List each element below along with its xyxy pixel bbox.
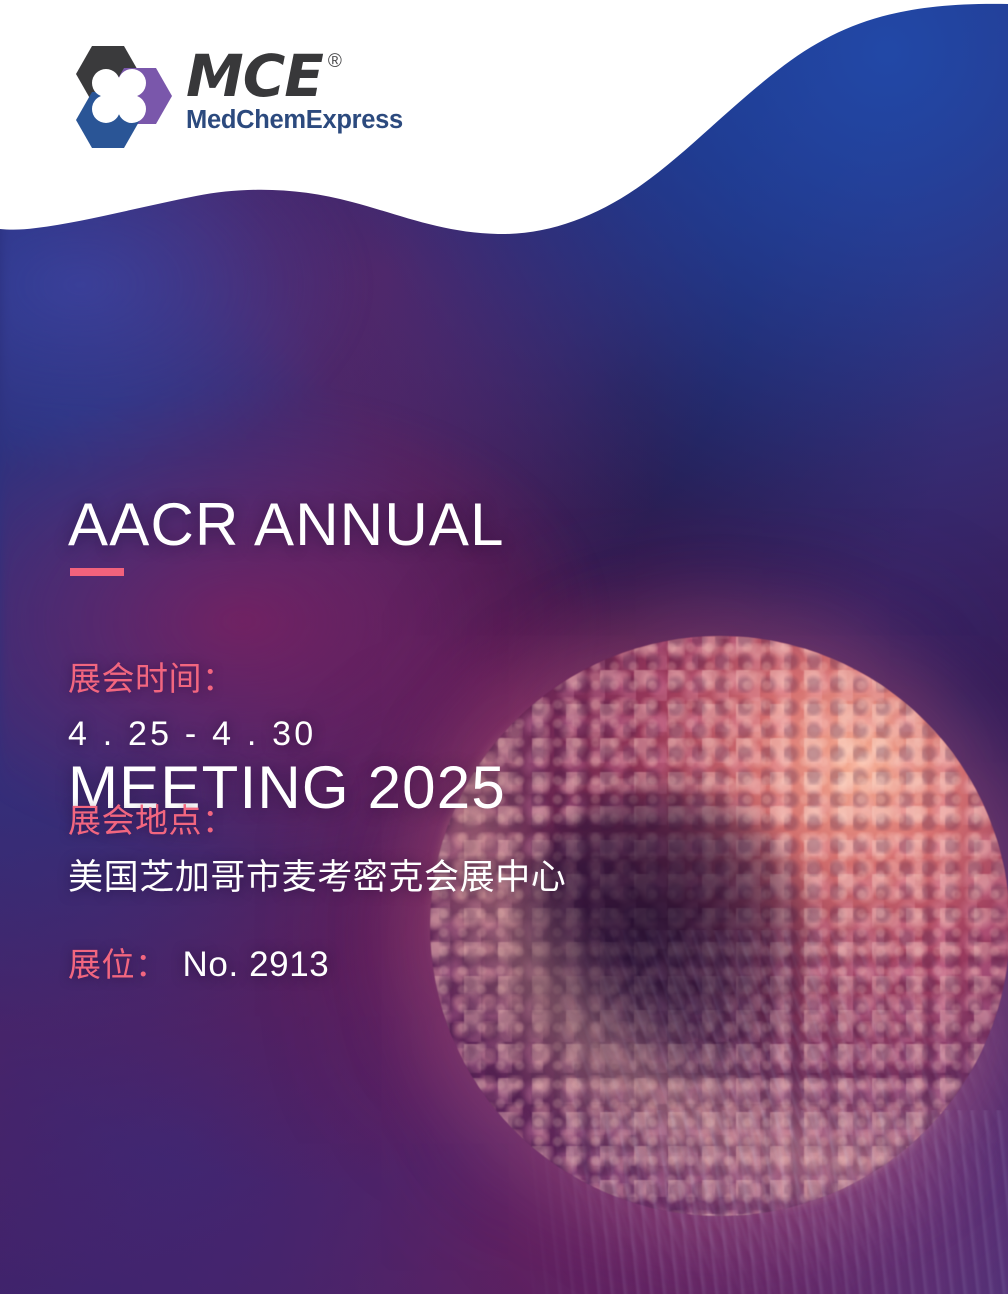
accent-divider-bar [70, 568, 124, 576]
info-value-booth: No. 2913 [183, 945, 330, 985]
mce-wordmark: MCE [186, 50, 323, 103]
registered-trademark-icon: ® [328, 52, 342, 71]
info-group-booth: 展位： No. 2913 [68, 944, 566, 986]
info-group-venue: 展会地点： 美国芝加哥市麦考密克会展中心 [68, 800, 566, 900]
brand-logo: MCE ® MedChemExpress [62, 44, 403, 152]
info-value-date: 4 . 25 - 4 . 30 [68, 712, 566, 756]
info-label-date: 展会时间： [68, 658, 566, 700]
info-value-venue: 美国芝加哥市麦考密克会展中心 [68, 855, 566, 901]
headline-line-1: AACR ANNUAL [68, 481, 506, 569]
mce-hexagon-molecule-logo-icon [62, 44, 172, 152]
brand-wordmark-block: MCE ® MedChemExpress [186, 44, 403, 134]
info-label-booth: 展位： [68, 944, 169, 986]
medchemexpress-subtitle: MedChemExpress [186, 108, 403, 134]
info-label-venue: 展会地点： [68, 800, 566, 842]
info-group-date: 展会时间： 4 . 25 - 4 . 30 [68, 658, 566, 756]
event-info-list: 展会时间： 4 . 25 - 4 . 30 展会地点： 美国芝加哥市麦考密克会展… [68, 658, 566, 986]
cell-filament-texture-lower [520, 1110, 1008, 1294]
poster-root: MCE ® MedChemExpress AACR ANNUAL MEETING… [0, 0, 1008, 1294]
